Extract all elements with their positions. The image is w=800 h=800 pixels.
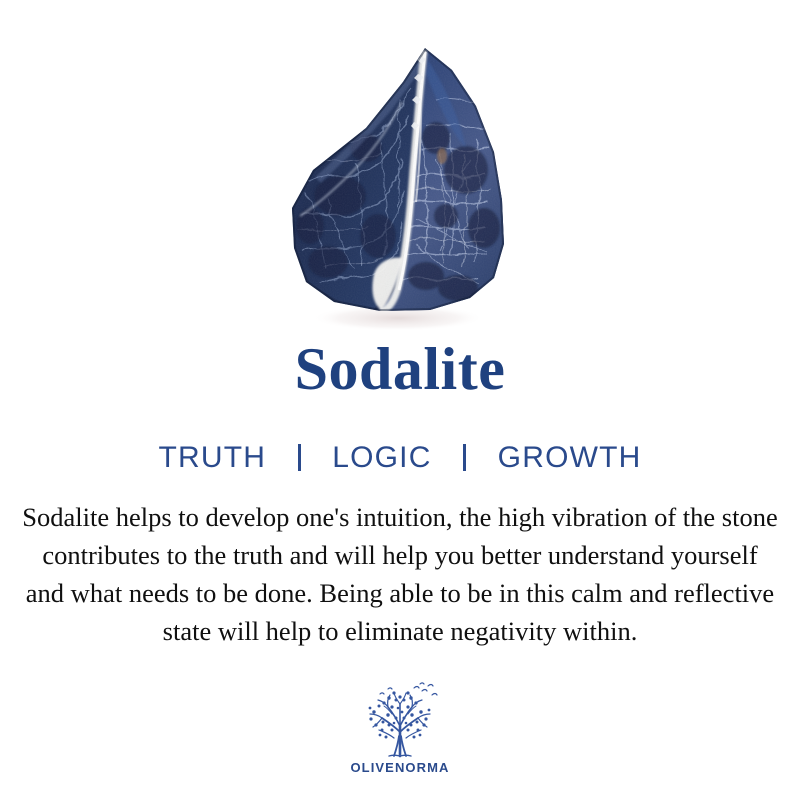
keyword-separator-1	[298, 444, 301, 471]
product-image-area	[0, 0, 800, 330]
keyword-strip: TRUTH LOGIC GROWTH	[0, 440, 800, 476]
stone-body	[270, 30, 520, 330]
keyword-logic: LOGIC	[332, 440, 431, 476]
tree-of-life-with-birds-icon	[358, 682, 442, 758]
keyword-separator-2	[463, 444, 466, 471]
description-text: Sodalite helps to develop one's intuitio…	[20, 498, 780, 650]
brand-logo: OLIVENORMA	[0, 682, 800, 775]
page-title: Sodalite	[0, 336, 800, 402]
sodalite-crystal-point-icon	[270, 30, 520, 330]
brand-name: OLIVENORMA	[350, 760, 449, 775]
crystal-info-card: Sodalite TRUTH LOGIC GROWTH Sodalite hel…	[0, 0, 800, 800]
keyword-growth: GROWTH	[498, 440, 642, 476]
keyword-truth: TRUTH	[158, 440, 266, 476]
